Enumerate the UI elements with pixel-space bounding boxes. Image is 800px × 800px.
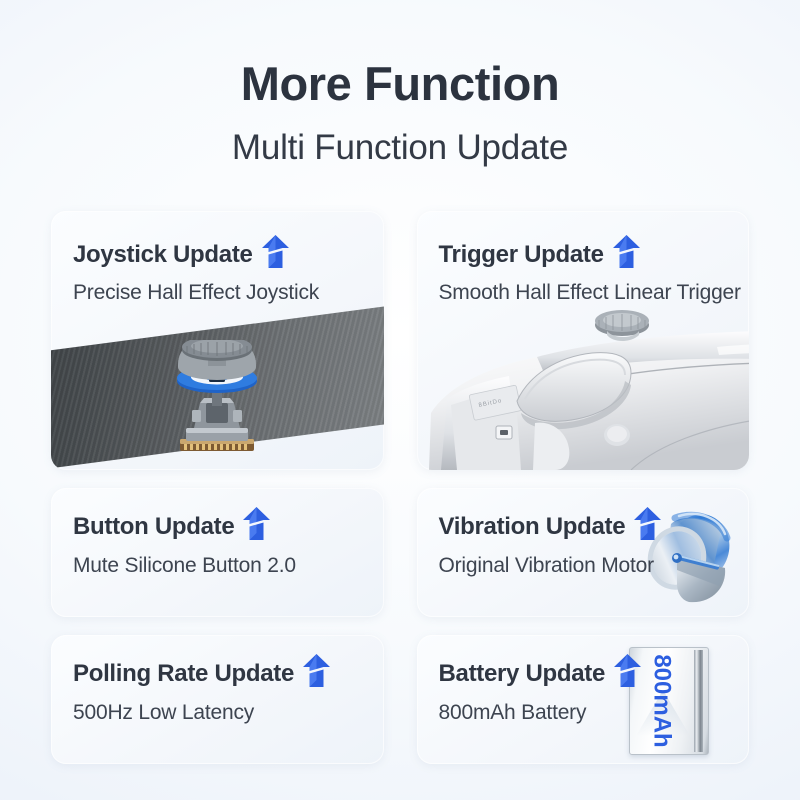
feature-card-joystick-subtitle: Precise Hall Effect Joystick: [73, 281, 384, 305]
arrow-up-icon: [303, 654, 330, 687]
feature-row-2: Button Update Mute Silicone Button 2.0: [51, 488, 749, 617]
feature-infographic-page: More Function Multi Function Update: [0, 0, 800, 800]
feature-card-joystick-title: Joystick Update: [73, 241, 253, 269]
feature-card-button-title: Button Update: [73, 513, 234, 541]
feature-card-vibration-title: Vibration Update: [439, 513, 626, 541]
feature-card-button-title-row: Button Update: [73, 513, 384, 541]
feature-card-vibration-title-row: Vibration Update: [439, 513, 750, 541]
feature-card-joystick-text: Joystick Update Precise Hall Effect Joys…: [51, 211, 384, 305]
arrow-up-icon: [613, 235, 640, 268]
feature-card-grid: Joystick Update Precise Hall Effect Joys…: [51, 211, 749, 764]
feature-card-polling-wrapper: Polling Rate Update 500Hz Low Latency: [51, 635, 384, 764]
feature-card-polling[interactable]: Polling Rate Update 500Hz Low Latency: [51, 635, 384, 764]
feature-card-trigger[interactable]: 8BitDo: [417, 211, 750, 470]
joystick-exploded-graphic: [142, 340, 292, 462]
feature-card-trigger-title-row: Trigger Update: [439, 241, 750, 269]
joystick-module-illustration: [51, 342, 384, 470]
feature-card-battery-subtitle: 800mAh Battery: [439, 701, 750, 725]
feature-card-vibration-subtitle: Original Vibration Motor: [439, 554, 750, 578]
controller-trigger-illustration: 8BitDo: [417, 295, 750, 470]
feature-card-battery[interactable]: 800mAh Battery Update 800mAh Ba: [417, 635, 750, 764]
feature-card-joystick-wrapper: Joystick Update Precise Hall Effect Joys…: [51, 211, 384, 470]
arrow-up-icon: [614, 654, 641, 687]
feature-card-button-wrapper: Button Update Mute Silicone Button 2.0: [51, 488, 384, 617]
feature-card-trigger-text: Trigger Update Smooth Hall Effect Linear…: [417, 211, 750, 305]
feature-card-polling-text: Polling Rate Update 500Hz Low Latency: [51, 635, 384, 725]
arrow-up-icon: [243, 507, 270, 540]
feature-row-3: Polling Rate Update 500Hz Low Latency: [51, 635, 749, 764]
feature-card-joystick-title-row: Joystick Update: [73, 241, 384, 269]
feature-card-battery-title-row: Battery Update: [439, 660, 750, 688]
arrow-up-icon: [262, 235, 289, 268]
feature-card-trigger-title: Trigger Update: [439, 241, 604, 269]
page-title: More Function: [0, 58, 800, 111]
feature-card-joystick[interactable]: Joystick Update Precise Hall Effect Joys…: [51, 211, 384, 470]
feature-card-trigger-wrapper: 8BitDo: [417, 211, 750, 470]
feature-card-button[interactable]: Button Update Mute Silicone Button 2.0: [51, 488, 384, 617]
page-subtitle: Multi Function Update: [0, 128, 800, 168]
feature-card-battery-wrapper: 800mAh Battery Update 800mAh Ba: [417, 635, 750, 764]
feature-card-polling-subtitle: 500Hz Low Latency: [73, 701, 384, 725]
feature-card-button-subtitle: Mute Silicone Button 2.0: [73, 554, 384, 578]
feature-card-battery-text: Battery Update 800mAh Battery: [417, 635, 750, 725]
page-header: More Function Multi Function Update: [0, 0, 800, 168]
feature-card-trigger-subtitle: Smooth Hall Effect Linear Trigger: [439, 281, 750, 305]
feature-card-battery-title: Battery Update: [439, 660, 606, 688]
arrow-up-icon: [634, 507, 661, 540]
feature-card-polling-title-row: Polling Rate Update: [73, 660, 384, 688]
feature-card-polling-title: Polling Rate Update: [73, 660, 294, 688]
feature-row-1: Joystick Update Precise Hall Effect Joys…: [51, 211, 749, 470]
feature-card-button-text: Button Update Mute Silicone Button 2.0: [51, 488, 384, 578]
feature-card-vibration[interactable]: Vibration Update Original Vibration Moto…: [417, 488, 750, 617]
feature-card-vibration-text: Vibration Update Original Vibration Moto…: [417, 488, 750, 578]
feature-card-vibration-wrapper: Vibration Update Original Vibration Moto…: [417, 488, 750, 617]
